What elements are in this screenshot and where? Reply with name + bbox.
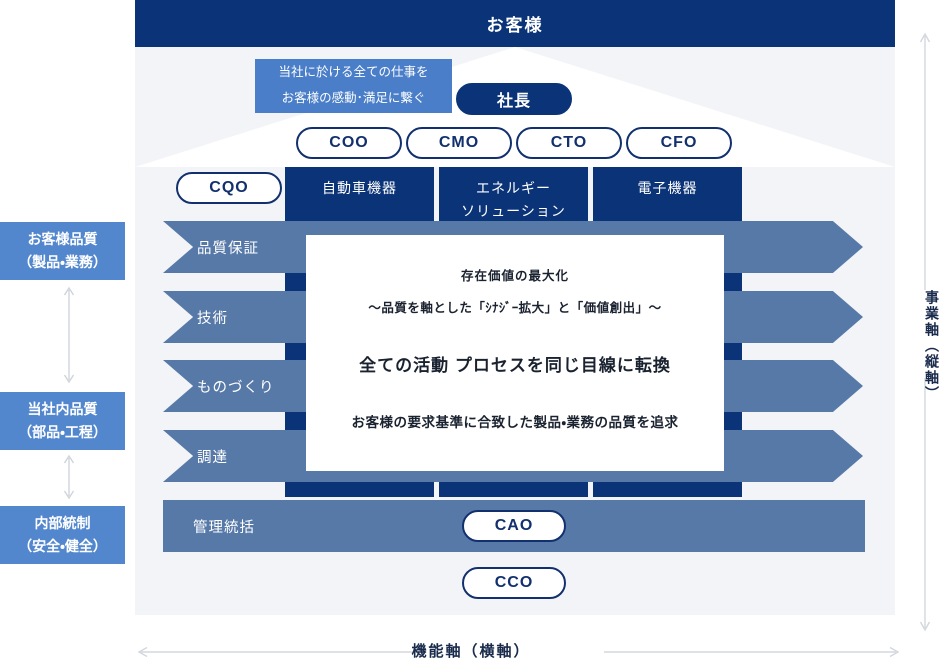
pill-coo[interactable]: COO (296, 127, 402, 159)
pill-cfo-label: CFO (661, 134, 698, 152)
sidebar-item-internal-quality: 当社内品質 （部品・工程） (0, 392, 125, 450)
pill-cao-label: CAO (495, 517, 534, 535)
message-line4: お客様の要求基準に合致した製品・業務の品質を追求 (351, 411, 678, 431)
sidebar-item-internal-control-line1: 内部統制 (0, 512, 125, 535)
vertical-axis-label: 事業軸（縦軸） (920, 290, 942, 402)
pill-president[interactable]: 社長 (456, 83, 572, 115)
pill-cmo[interactable]: CMO (406, 127, 512, 159)
pill-cfo[interactable]: CFO (626, 127, 732, 159)
pill-cqo[interactable]: CQO (176, 172, 282, 204)
pill-cqo-label: CQO (209, 179, 248, 197)
pill-coo-label: COO (329, 134, 368, 152)
sidebar-item-internal-control-line2: （安全・健全） (0, 535, 125, 558)
sidebar-item-customer-quality: お客様品質 （製品・業務） (0, 222, 125, 280)
process-label-manufacturing: ものづくり (197, 360, 275, 412)
sidebar-item-internal-quality-line1: 当社内品質 (0, 398, 125, 421)
horizontal-axis-label: 機能軸（横軸） (0, 640, 942, 661)
process-label-quality-assurance: 品質保証 (197, 221, 259, 273)
customer-bar: お客様 (135, 0, 895, 47)
sidebar-item-internal-quality-line2: （部品・工程） (0, 421, 125, 444)
process-label-technology: 技術 (197, 291, 228, 343)
division-label-electronics: 電子機器 (593, 177, 742, 200)
division-label-energy: エネルギー ソリューション (439, 177, 588, 223)
sidebar-item-customer-quality-line2: （製品・業務） (0, 251, 125, 274)
message-line1: 存在価値の最大化 (461, 265, 569, 284)
message-line3: 全ての活動 プロセスを同じ目線に転換 (359, 351, 671, 376)
pill-cmo-label: CMO (439, 134, 479, 152)
process-label-procurement: 調達 (197, 430, 228, 482)
diagram-root: お客様 当社に於ける全ての仕事を お客様の感動･満足に繋ぐ 社長 COO CMO… (0, 0, 942, 664)
pill-cco[interactable]: CCO (462, 567, 566, 599)
mission-callout: 当社に於ける全ての仕事を お客様の感動･満足に繋ぐ (255, 59, 452, 113)
sidebar-double-arrow-upper-icon (62, 282, 76, 388)
sidebar-item-internal-control: 内部統制 （安全・健全） (0, 506, 125, 564)
admin-band-label: 管理統括 (193, 500, 255, 552)
mission-callout-line2: お客様の感動･満足に繋ぐ (255, 85, 452, 111)
pill-cto[interactable]: CTO (516, 127, 622, 159)
division-label-energy-line1: エネルギー (439, 177, 588, 200)
pill-cco-label: CCO (495, 574, 534, 592)
customer-bar-label: お客様 (487, 11, 544, 36)
division-label-electronics-line1: 電子機器 (593, 177, 742, 200)
pill-cao[interactable]: CAO (462, 510, 566, 542)
pill-president-label: 社長 (497, 87, 531, 111)
pill-cto-label: CTO (551, 134, 587, 152)
sidebar-double-arrow-lower-icon (62, 452, 76, 502)
sidebar-item-customer-quality-line1: お客様品質 (0, 228, 125, 251)
division-label-energy-line2: ソリューション (439, 200, 588, 223)
mission-callout-line1: 当社に於ける全ての仕事を (255, 59, 452, 85)
division-label-automotive-line1: 自動車機器 (285, 177, 434, 200)
message-line2: 〜品質を軸とした「ｼﾅｼﾞｰ拡大」と「価値創出」〜 (368, 297, 661, 316)
division-label-automotive: 自動車機器 (285, 177, 434, 200)
message-card: 存在価値の最大化 〜品質を軸とした「ｼﾅｼﾞｰ拡大」と「価値創出」〜 全ての活動… (306, 235, 724, 471)
